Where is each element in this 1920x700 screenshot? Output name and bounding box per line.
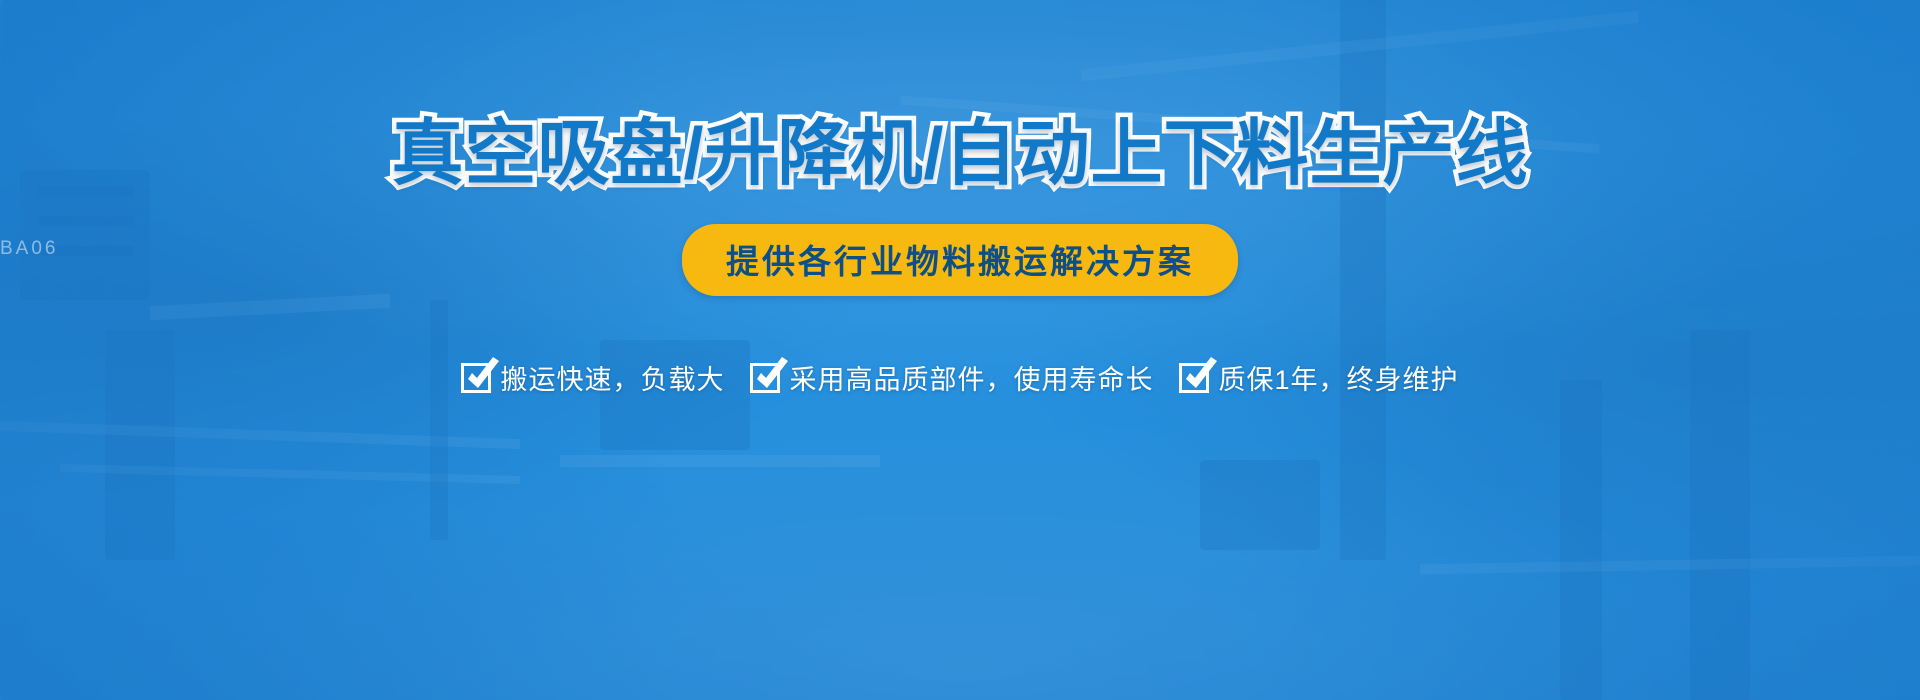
promo-banner: BA06 真空吸盘/升降机/自动上下料生产线 提供各行业物料搬运解决方案 搬运快…: [0, 0, 1920, 700]
checkbox-check-icon: [750, 363, 780, 393]
checkbox-check-icon: [1179, 363, 1209, 393]
feature-item: 采用高品质部件，使用寿命长: [750, 358, 1153, 397]
checkbox-check-icon: [461, 363, 491, 393]
banner-title: 真空吸盘/升降机/自动上下料生产线: [391, 118, 1528, 190]
feature-label: 搬运快速，负载大: [500, 358, 724, 397]
feature-list: 搬运快速，负载大 采用高品质部件，使用寿命长 质保1年，终身维护: [461, 358, 1458, 397]
feature-label: 采用高品质部件，使用寿命长: [789, 358, 1153, 397]
feature-item: 质保1年，终身维护: [1179, 358, 1458, 397]
feature-label: 质保1年，终身维护: [1218, 358, 1458, 397]
banner-subtitle-pill: 提供各行业物料搬运解决方案: [682, 224, 1238, 296]
banner-content: 真空吸盘/升降机/自动上下料生产线 提供各行业物料搬运解决方案 搬运快速，负载大…: [0, 0, 1920, 700]
feature-item: 搬运快速，负载大: [461, 358, 724, 397]
